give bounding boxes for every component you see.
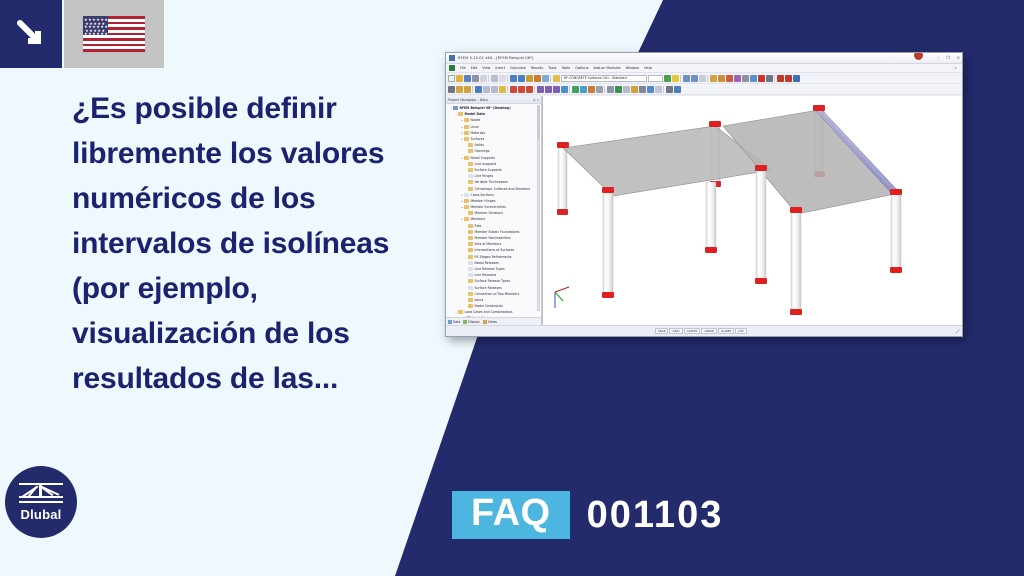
deformation-icon[interactable]	[572, 86, 579, 93]
toolbar-separator	[774, 75, 776, 82]
draw-arc-icon[interactable]	[464, 86, 471, 93]
column-mid-right	[755, 165, 767, 284]
pointer-icon[interactable]	[448, 86, 455, 93]
tree-item-label: Connection of Two Members	[475, 292, 520, 296]
nodal-load-icon[interactable]	[537, 86, 544, 93]
navigator-scrollbar[interactable]	[537, 105, 540, 311]
tree-item-label: Lines	[471, 125, 479, 129]
folder-icon	[468, 286, 473, 290]
folder-icon	[468, 143, 473, 147]
toolbar-separator	[707, 75, 709, 82]
folder-icon	[468, 292, 473, 296]
info-icon[interactable]	[793, 75, 800, 82]
tree-item-label: Surface Supports	[475, 168, 502, 172]
status-cell-dxf[interactable]: DXF	[735, 328, 747, 334]
folder-icon	[468, 230, 473, 234]
settings-icon[interactable]	[623, 86, 630, 93]
tree-item-label: Load Cases	[473, 316, 491, 317]
isoline-icon[interactable]	[580, 86, 587, 93]
select-icon[interactable]	[766, 75, 773, 82]
folder-icon	[464, 137, 469, 141]
status-cell-snap[interactable]: SNAP	[655, 328, 668, 334]
status-cell-glines[interactable]: GLINES	[718, 328, 734, 334]
navigator-title-text: Project Navigator - Data	[448, 98, 488, 102]
tree-item-label: Intersections of Surfaces	[475, 248, 515, 252]
column-far-right	[890, 189, 902, 273]
surface-icon[interactable]	[483, 86, 490, 93]
contour-icon[interactable]	[588, 86, 595, 93]
surface-load-icon[interactable]	[553, 86, 560, 93]
tree-item-label: Member Eccentricities	[471, 205, 506, 209]
toolbar-row-2[interactable]	[446, 84, 962, 95]
calculate-icon[interactable]	[615, 86, 622, 93]
tree-item-label: Nodal Constraints	[475, 304, 503, 308]
load-display-icon[interactable]	[734, 75, 741, 82]
tree-item-label: Nodal Supports	[471, 156, 495, 160]
rfem-application-window[interactable]: RFEM 5.22.01 x64 - [RFEM Beispiel 06*] –…	[445, 52, 963, 337]
scrollbar-thumb[interactable]	[538, 106, 539, 140]
toolbar-separator	[604, 86, 606, 93]
status-cell-osnap[interactable]: OSNAP	[701, 328, 717, 334]
navigator-tab-data[interactable]: Data	[448, 320, 460, 324]
tree-item-label: RF-Stages Refinements	[475, 255, 512, 259]
folder-icon	[464, 217, 469, 221]
column-front-left	[602, 187, 614, 298]
undo-icon[interactable]	[510, 75, 517, 82]
axis-triad-icon	[555, 287, 569, 308]
us-flag-icon: ★★★★★★★★★★★★★★★★★★★★★★★★★★★★	[83, 16, 145, 52]
faq-label: FAQ	[452, 491, 570, 539]
folder-icon	[464, 199, 469, 203]
addon-module-select[interactable]: RF-CONCRETE Surfaces CA1 - Standard	[561, 75, 647, 82]
dlubal-logo[interactable]: Dlubal	[5, 466, 77, 538]
loadcase-select[interactable]	[648, 75, 663, 82]
menu-item-table[interactable]: Table	[562, 66, 571, 70]
toolbar-separator	[680, 75, 682, 82]
tree-item-label: Surface Release Types	[475, 279, 511, 283]
view-iso-icon[interactable]	[699, 75, 706, 82]
module-icon[interactable]	[553, 75, 560, 82]
arrow-down-right-badge[interactable]	[0, 0, 62, 68]
folder-icon	[468, 267, 473, 271]
grid-icon[interactable]	[542, 75, 549, 82]
tree-item-label: Cross-Sections	[471, 193, 494, 197]
toolbar-separator	[663, 86, 665, 93]
status-cell-grid[interactable]: GRID	[669, 328, 682, 334]
snap-icon[interactable]	[631, 86, 638, 93]
menu-item-results[interactable]: Results	[531, 66, 543, 70]
annotate-icon[interactable]	[674, 86, 681, 93]
section-icon[interactable]	[596, 86, 603, 93]
folder-icon	[468, 273, 473, 277]
menu-item-file[interactable]: File	[460, 66, 466, 70]
data-tab-icon	[448, 320, 452, 324]
menu-item-edit[interactable]: Edit	[471, 66, 478, 70]
toolbar-separator	[550, 75, 552, 82]
tree-item-label: Surfaces	[471, 137, 485, 141]
window-titlebar[interactable]: RFEM 5.22.01 x64 - [RFEM Beispiel 06*] –…	[446, 53, 962, 64]
tree-item-load-cases[interactable]: + Load Cases	[448, 315, 541, 317]
view-side-icon[interactable]	[691, 75, 698, 82]
print-icon[interactable]	[472, 75, 479, 82]
tree-item-label: Line Releases	[475, 273, 497, 277]
new-icon[interactable]	[448, 75, 455, 82]
dlubal-wordmark: Dlubal	[21, 507, 62, 522]
menu-bar[interactable]: File Edit View Insert Calculate Results …	[446, 64, 962, 73]
menu-item-addon-modules[interactable]: Add-on Modules	[593, 66, 620, 70]
run-icon[interactable]	[664, 75, 671, 82]
structural-model-3d	[543, 96, 962, 325]
folder-icon	[458, 112, 463, 116]
navigator-tab-label: Views	[488, 320, 497, 324]
tree-item-label: Orthotropic Surfaces and Members	[475, 187, 531, 191]
mdi-window-controls[interactable]: – ✕	[951, 66, 959, 70]
toolbar-separator	[507, 75, 509, 82]
menu-item-options[interactable]: Options	[575, 66, 588, 70]
maximize-button[interactable]: ❐	[946, 55, 950, 60]
nodal-support-back-mid	[709, 121, 721, 127]
navigator-tabs[interactable]: Data Display Views	[446, 317, 541, 325]
tree-item-label: Ribs	[475, 224, 482, 228]
render-icon[interactable]	[534, 75, 541, 82]
support-display-icon[interactable]	[726, 75, 733, 82]
menu-item-window[interactable]: Window	[626, 66, 639, 70]
column-back-left	[557, 146, 568, 215]
open-icon[interactable]	[456, 75, 463, 82]
page-title: ¿Es posible definir libremente los valor…	[72, 86, 432, 401]
tree-item-label: Nodal Releases	[475, 261, 499, 265]
folder-icon	[468, 298, 473, 302]
navigator-tab-label: Display	[468, 320, 479, 324]
app-icon	[449, 55, 455, 61]
tree-item-label: Member Divisions	[475, 211, 503, 215]
menu-item-calculate[interactable]: Calculate	[510, 66, 526, 70]
folder-icon	[464, 156, 469, 160]
report-icon[interactable]	[785, 75, 792, 82]
tree-item-label: Line Release Types	[475, 267, 505, 271]
tree-item-label: Variable Thicknesses	[475, 180, 508, 184]
member-display-icon[interactable]	[718, 75, 725, 82]
menu-item-tools[interactable]: Tools	[548, 66, 556, 70]
minimize-button[interactable]: –	[937, 55, 939, 60]
folder-icon	[468, 162, 473, 166]
navigator-panel-controls[interactable]: ⊟ ✕	[533, 98, 539, 102]
menu-app-icon	[449, 65, 455, 71]
resize-grip-icon[interactable]	[955, 329, 960, 334]
copy-icon[interactable]	[499, 75, 506, 82]
draw-line-icon[interactable]	[456, 86, 463, 93]
folder-icon	[468, 242, 473, 246]
window-controls[interactable]: – ❐ ✕	[937, 55, 960, 60]
menu-item-help[interactable]: Help	[644, 66, 652, 70]
folder-icon	[464, 125, 469, 129]
nodal-support-back-right	[813, 105, 825, 111]
redo-icon[interactable]	[518, 75, 525, 82]
model-viewport[interactable]	[542, 96, 962, 325]
solid-icon[interactable]	[491, 86, 498, 93]
folder-icon	[468, 149, 473, 153]
tree-item-label: Joints	[475, 298, 484, 302]
model-icon	[453, 106, 458, 110]
status-cell-cartes[interactable]: CARTES	[684, 328, 701, 334]
dimension-icon[interactable]	[750, 75, 757, 82]
cut-icon[interactable]	[491, 75, 498, 82]
tree-item-label: Solids	[475, 143, 484, 147]
project-navigator[interactable]: Project Navigator - Data ⊟ ✕ − RFEM Beis…	[446, 96, 542, 325]
tree-root-label: RFEM Beispiel 06* (Desktop)	[460, 106, 511, 110]
surface-support-icon[interactable]	[526, 86, 533, 93]
menu-item-view[interactable]: View	[482, 66, 490, 70]
toolbar-separator	[507, 86, 509, 93]
navigator-tree[interactable]: − RFEM Beispiel 06* (Desktop) − Model Da…	[446, 104, 541, 317]
folder-icon	[468, 236, 473, 240]
view-front-icon[interactable]	[683, 75, 690, 82]
tree-item-label: Openings	[475, 149, 490, 153]
tree-item-label: Load Cases and Combinations	[465, 310, 513, 314]
dlubal-truss-icon	[19, 483, 63, 505]
folder-icon	[468, 279, 473, 283]
folder-icon	[468, 255, 473, 259]
tree-item-label: Member Hinges	[471, 199, 496, 203]
ortho-icon[interactable]	[639, 86, 646, 93]
line-load-icon[interactable]	[545, 86, 552, 93]
opening-icon[interactable]	[499, 86, 506, 93]
navigator-tab-views[interactable]: Views	[483, 320, 497, 324]
column-front-right	[790, 207, 802, 315]
tree-item-label: Members	[471, 217, 486, 221]
tree-item-label: Line Hinges	[475, 174, 494, 178]
loadcase-icon	[466, 316, 471, 317]
navigator-tab-label: Data	[453, 320, 460, 324]
arrow-down-right-icon	[14, 17, 48, 51]
folder-icon	[468, 187, 473, 191]
folder-icon	[464, 131, 469, 135]
folder-icon	[458, 310, 463, 314]
free-load-icon[interactable]	[561, 86, 568, 93]
zoom-icon[interactable]	[526, 75, 533, 82]
language-flag-badge[interactable]: ★★★★★★★★★★★★★★★★★★★★★★★★★★★★	[64, 0, 164, 68]
folder-icon	[468, 211, 473, 215]
measure-icon[interactable]	[666, 86, 673, 93]
toolbar-separator	[534, 86, 536, 93]
tree-item-label: Model Data	[465, 112, 485, 116]
folder-icon	[468, 174, 473, 178]
table-icon[interactable]	[777, 75, 784, 82]
status-bar[interactable]: SNAP GRID CARTES OSNAP GLINES DXF	[446, 325, 962, 336]
toolbar-separator	[569, 86, 571, 93]
workarea: Project Navigator - Data ⊟ ✕ − RFEM Beis…	[446, 96, 962, 325]
folder-icon	[464, 193, 469, 197]
line-support-icon[interactable]	[518, 86, 525, 93]
views-tab-icon	[483, 320, 487, 324]
display-tab-icon	[463, 320, 467, 324]
window-title: RFEM 5.22.01 x64 - [RFEM Beispiel 06*]	[458, 56, 533, 60]
faq-footer: FAQ 001103	[452, 491, 723, 539]
delete-icon[interactable]	[758, 75, 765, 82]
tree-item-label: Member Nonlinearities	[475, 236, 511, 240]
folder-icon	[468, 168, 473, 172]
nodal-support-icon[interactable]	[510, 86, 517, 93]
visibility-icon[interactable]	[655, 86, 662, 93]
column-mid-left	[705, 182, 717, 253]
toolbar-separator	[488, 75, 490, 82]
navigator-tab-display[interactable]: Display	[463, 320, 479, 324]
numbering-icon[interactable]	[742, 75, 749, 82]
navigator-title: Project Navigator - Data ⊟ ✕	[446, 96, 541, 104]
folder-icon	[468, 304, 473, 308]
toolbar-row-1[interactable]: RF-CONCRETE Surfaces CA1 - Standard	[446, 73, 962, 84]
preview-icon[interactable]	[480, 75, 487, 82]
tree-item-label: Line Supports	[475, 162, 497, 166]
tree-item-label: Member Elastic Foundations	[475, 230, 520, 234]
folder-icon	[468, 224, 473, 228]
lamp-icon[interactable]	[672, 75, 679, 82]
toolbar-separator	[472, 86, 474, 93]
node-icon[interactable]	[475, 86, 482, 93]
folder-icon	[464, 118, 469, 122]
folder-icon	[464, 205, 469, 209]
menu-item-insert[interactable]: Insert	[495, 66, 505, 70]
folder-icon	[468, 261, 473, 265]
folder-icon	[468, 180, 473, 184]
surface-display-icon[interactable]	[710, 75, 717, 82]
tree-item-label: Nodes	[471, 118, 481, 122]
tree-item-label: Surface Releases	[475, 286, 502, 290]
tree-item-label: Materials	[471, 131, 486, 135]
faq-number: 001103	[587, 496, 724, 534]
close-button[interactable]: ✕	[957, 55, 960, 60]
save-icon[interactable]	[464, 75, 471, 82]
slide-canvas: ★★★★★★★★★★★★★★★★★★★★★★★★★★★★ ¿Es posible…	[0, 0, 1024, 576]
layers-icon[interactable]	[647, 86, 654, 93]
tree-item-label: Sets of Members	[475, 242, 502, 246]
mesh-icon[interactable]	[607, 86, 614, 93]
folder-icon	[468, 248, 473, 252]
nodal-support-back-left	[557, 142, 569, 148]
